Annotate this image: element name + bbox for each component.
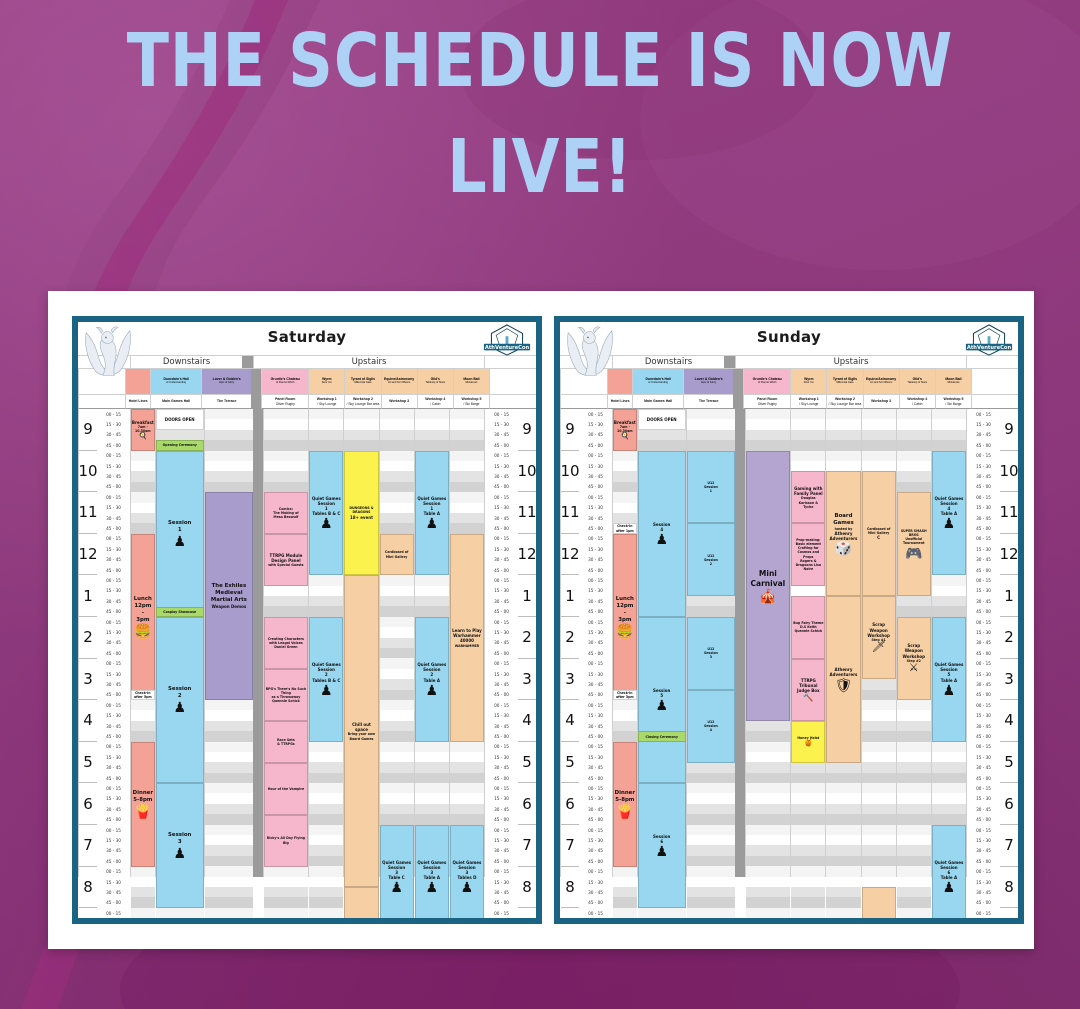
stripe: [791, 877, 825, 887]
slot-label: 15 - 30: [967, 461, 1000, 471]
slot-label: 30 - 45: [967, 846, 1000, 856]
hour-label: 10: [79, 451, 97, 493]
slot-label: 45 - 00: [579, 648, 612, 658]
schedule-event[interactable]: Lunch12pm -3pm🍔: [131, 534, 155, 700]
slot-label: 00 - 15: [97, 409, 130, 419]
hour-label: 9: [518, 908, 536, 918]
event-label: Chill out space: [346, 722, 376, 732]
slot-label: 00 - 15: [485, 409, 518, 419]
hour-label: 9: [79, 409, 97, 451]
slot-label: 45 - 00: [97, 482, 130, 492]
sponsor-tagline: Tabletop of Stars: [426, 382, 445, 385]
slot-label: 00 - 15: [579, 575, 612, 585]
venue-column: Learn to PlayWarhammer40000WARHAMMERQuie…: [449, 409, 484, 877]
slot-label: 45 - 00: [485, 607, 518, 617]
sponsor-tagline: Miniatures: [947, 382, 959, 385]
hour-label: 8: [1000, 867, 1018, 909]
saturday-grid: 91011121234567891000 - 1515 - 3030 - 454…: [78, 409, 536, 877]
slot-label: 15 - 30: [579, 461, 612, 471]
slot-label: 45 - 00: [97, 898, 130, 908]
slot-labels: 00 - 1515 - 3030 - 4545 - 0000 - 1515 - …: [97, 409, 130, 877]
slot-label: 30 - 45: [97, 804, 130, 814]
slot-label: 15 - 30: [485, 586, 518, 596]
schedule-event[interactable]: Ricky's All Day Flying Big: [264, 815, 309, 867]
slot-label: 15 - 30: [579, 877, 612, 887]
schedule-event[interactable]: DOORS OPEN: [638, 409, 686, 430]
slot-label: 00 - 15: [967, 409, 1000, 419]
venue-column: Breakfast7am - 10.30am🍳Check-in after 3p…: [130, 409, 155, 877]
sunday-header: Sunday AthVentureCon: [560, 322, 1018, 356]
event-label: Mini: [759, 569, 777, 579]
hour-label: 5: [1000, 742, 1018, 784]
athventurecon-logo: AthVentureCon: [963, 323, 1015, 356]
slot-label: 45 - 00: [97, 565, 130, 575]
event-icon: ♟: [655, 532, 668, 546]
schedule-event[interactable]: Check-in after 3pm: [613, 690, 637, 700]
hour-label: 1: [561, 575, 579, 617]
slot-label: 30 - 45: [485, 596, 518, 606]
venue-column: Gaming withFamily PanelDouglas Karlsson …: [790, 409, 825, 877]
hour-label: 9: [561, 908, 579, 918]
slot-label: 30 - 45: [485, 679, 518, 689]
schedule-event[interactable]: DOORS OPEN: [156, 409, 204, 430]
event-layer: Breakfast7am - 10.30am🍳Check-in after 1p…: [613, 409, 637, 877]
stripe: [897, 877, 931, 887]
sponsor-tagline: Art and Sci Officers: [870, 382, 892, 385]
slot-label: 45 - 00: [485, 482, 518, 492]
schedule-event[interactable]: Session5♟: [638, 617, 686, 783]
slot-label: 30 - 45: [485, 804, 518, 814]
saturday-sponsor-row: Dunedain's Hallof UnderstandingLover & G…: [78, 369, 536, 395]
hour-label: 7: [1000, 825, 1018, 867]
room-name: Main Games Hall: [162, 399, 190, 403]
event-layer: Comics:The Making ofMesa BeowulfTTRPG Mo…: [264, 409, 309, 877]
slot-label: 15 - 30: [97, 503, 130, 513]
event-label: Board: [834, 513, 852, 520]
slot-label: 15 - 30: [579, 711, 612, 721]
slot-label: 45 - 00: [579, 565, 612, 575]
schedule-event[interactable]: Breakfast7am - 10.30am🍳: [613, 409, 637, 451]
slot-label: 15 - 30: [579, 586, 612, 596]
slot-labels: 00 - 1515 - 3030 - 4545 - 0000 - 1515 - …: [485, 409, 518, 877]
slot-label: 15 - 30: [97, 835, 130, 845]
hour-label: 4: [1000, 700, 1018, 742]
event-label: Closing Ceremony: [646, 735, 678, 739]
slot-label: 15 - 30: [97, 877, 130, 887]
time-column-left: 91011121234567891000 - 1515 - 3030 - 454…: [560, 409, 612, 877]
slot-group: 00 - 1515 - 3030 - 4545 - 00: [967, 700, 1000, 742]
sponsor-cell: Tyrant of SigilsMillennial Gate: [826, 369, 862, 395]
time-column-left: 91011121234567891000 - 1515 - 3030 - 454…: [78, 409, 130, 877]
schedule-event[interactable]: Quiet GamesSession5Table A♟: [932, 617, 966, 742]
event-label: The Exhiles: [212, 583, 247, 590]
schedule-event[interactable]: Honey Heist🍯: [791, 721, 825, 763]
schedule-event[interactable]: Session6♟: [638, 783, 686, 908]
slot-label: 15 - 30: [967, 794, 1000, 804]
slot-label: 45 - 00: [967, 690, 1000, 700]
stripe: [613, 908, 637, 918]
hour-label: 8: [561, 867, 579, 909]
schedule-event[interactable]: Just Dance🎮: [862, 887, 896, 918]
slot-label: 45 - 00: [579, 482, 612, 492]
schedules-card: Saturday AthVentureCon Downstairs Upstai…: [48, 291, 1034, 949]
hour-label: 9: [561, 409, 579, 451]
event-icon: ♟: [426, 683, 439, 697]
room-cell: Workshop 4/ Cabin: [417, 395, 453, 409]
room-sublabel: Oliver Rugby: [758, 402, 777, 406]
slot-group: 00 - 1515 - 3030 - 4545 - 00: [485, 534, 518, 576]
slot-group: 00 - 1515 - 3030 - 4545 - 00: [485, 492, 518, 534]
slot-label: 00 - 15: [967, 908, 1000, 918]
event-label: RPG's There's No Such Thing: [266, 687, 307, 695]
schedule-event[interactable]: Quiet GamesSession4Table A♟: [932, 451, 966, 576]
venue-column: DUNGEONS &DRAGONS18+ eventChill out spac…: [343, 409, 378, 877]
slot-group: 00 - 1515 - 3030 - 4545 - 00: [485, 451, 518, 493]
schedule-event[interactable]: Prop-making:Basic element Crafting for C…: [791, 523, 825, 585]
slot-label: 30 - 45: [967, 679, 1000, 689]
room-sublabel: / Sky Lounge: [799, 402, 818, 406]
schedule-event[interactable]: DUNGEONS &DRAGONS18+ event: [344, 451, 378, 576]
slot-group: 00 - 1515 - 3030 - 4545 - 00: [967, 742, 1000, 784]
slot-label: 30 - 45: [485, 763, 518, 773]
room-cell: Hotel Lines: [607, 395, 632, 409]
schedule-event[interactable]: U12Session4: [687, 690, 735, 763]
stripe: [897, 887, 931, 897]
schedule-event[interactable]: Bug Fairy ThemeD.S Keith Quennie Schick: [791, 596, 825, 658]
room-cell: Workshop 3: [381, 395, 417, 409]
schedule-event[interactable]: MiniCarnival🎪: [746, 451, 791, 721]
slot-label: 15 - 30: [485, 752, 518, 762]
slot-label: 15 - 30: [97, 586, 130, 596]
event-layer: DOORS OPENOpening CeremonySession1♟Cospl…: [156, 409, 204, 877]
sponsor-tagline: Miniatures: [465, 382, 477, 385]
slot-group: 00 - 1515 - 3030 - 4545 - 00: [967, 825, 1000, 867]
event-label: Scrap Weapon: [864, 622, 894, 632]
slot-label: 45 - 00: [579, 856, 612, 866]
slot-label: 00 - 15: [97, 783, 130, 793]
schedule-event[interactable]: Closing Ceremony: [638, 731, 686, 741]
schedule-event[interactable]: Breakfast7am - 10.30am🍳: [131, 409, 155, 451]
slot-group: 00 - 1515 - 3030 - 4545 - 00: [967, 575, 1000, 617]
slot-label: 30 - 45: [97, 596, 130, 606]
schedule-event[interactable]: U12Session2: [687, 523, 735, 596]
room-cell: Workshop 4/ Cabin: [899, 395, 935, 409]
schedule-event[interactable]: Check-in after 1pm: [613, 523, 637, 533]
floor-label-downstairs: Downstairs: [130, 356, 242, 368]
schedule-event[interactable]: Creating Characterswith Leagol VoicesDan…: [264, 617, 309, 669]
event-label: & TTRPGs: [277, 742, 295, 746]
hour-label: 6: [1000, 783, 1018, 825]
event-layer: SUPER SMASH BROSUnofficialTournament🎮Scr…: [897, 409, 931, 877]
event-label: Session: [168, 686, 191, 693]
sponsor-tagline: Millennial Gate: [836, 382, 853, 385]
sponsor-cell: Gruntle's Chateauof Flannel Witch: [743, 369, 790, 395]
hour-label: 10: [561, 451, 579, 493]
schedule-event[interactable]: Quiet GamesSession1Table A♟: [415, 451, 449, 576]
stripe: [205, 897, 253, 907]
schedule-event[interactable]: Cosplay Showcase: [156, 607, 204, 617]
schedule-event[interactable]: TTRPG ModuleDesign Panelwith Special Gue…: [264, 534, 309, 586]
room-name: Main Games Hall: [644, 399, 672, 403]
slot-label: 00 - 15: [967, 742, 1000, 752]
slot-label: 00 - 15: [967, 700, 1000, 710]
slot-group: 00 - 1515 - 3030 - 4545 - 00: [485, 409, 518, 451]
schedule-event[interactable]: Cardboard of Mini Gallery: [380, 534, 414, 576]
venue-column: MiniCarnival🎪: [745, 409, 791, 877]
hour-label: 12: [1000, 534, 1018, 576]
slot-label: 00 - 15: [97, 742, 130, 752]
schedule-event[interactable]: Quiet GamesSession2Table A♟: [415, 617, 449, 742]
slot-label: 45 - 00: [579, 690, 612, 700]
venue-column: Breakfast7am - 10.30am🍳Check-in after 1p…: [612, 409, 637, 877]
hour-label: 1: [518, 575, 536, 617]
slot-label: 00 - 15: [579, 742, 612, 752]
slot-label: 00 - 15: [97, 700, 130, 710]
event-icon: ♟: [320, 683, 333, 697]
event-label: 4: [710, 728, 712, 732]
event-label: Hour of the Vampire: [268, 787, 304, 791]
slot-label: 00 - 15: [97, 534, 130, 544]
schedule-event[interactable]: AthenryAdventurers🛡: [826, 596, 860, 762]
room-cell: Main Games Hall: [632, 395, 683, 409]
schedule-event[interactable]: U12Session1: [687, 451, 735, 524]
stripe: [826, 877, 860, 887]
slot-label: 45 - 00: [967, 856, 1000, 866]
slot-label: 15 - 30: [485, 461, 518, 471]
slot-label: 45 - 00: [967, 773, 1000, 783]
hour-label: 9: [1000, 409, 1018, 451]
slot-label: 15 - 30: [579, 669, 612, 679]
sponsor-cell: Gild'sTabletop of Stars: [417, 369, 453, 395]
stripe: [131, 877, 155, 887]
event-label: Basic element Crafting for Cosmos and Pr…: [793, 542, 823, 559]
event-label: Board Games: [350, 737, 374, 741]
slot-label: 45 - 00: [579, 898, 612, 908]
hour-label: 3: [561, 659, 579, 701]
slot-label: 45 - 00: [967, 731, 1000, 741]
event-layer: Quiet GamesSession1Tables B & C♟Quiet Ga…: [309, 409, 343, 877]
slot-label: 00 - 15: [485, 867, 518, 877]
schedule-event[interactable]: Cardboard of Mini GalleryC: [862, 471, 896, 596]
slot-label: 45 - 00: [967, 440, 1000, 450]
stripe: [264, 897, 309, 907]
sunday-title: Sunday: [560, 328, 1018, 346]
slot-label: 45 - 00: [485, 731, 518, 741]
saturday-header: Saturday AthVentureCon: [78, 322, 536, 356]
slot-label: 15 - 30: [97, 544, 130, 554]
room-cell: Workshop 2/ Sky Lounge Bar area: [826, 395, 862, 409]
event-layer: Gaming withFamily PanelDouglas Karlsson …: [791, 409, 825, 877]
stripe: [746, 877, 791, 887]
schedule-event[interactable]: Chill out spaceBring your ownBoard Games: [344, 575, 378, 887]
slot-label: 15 - 30: [967, 503, 1000, 513]
schedule-event[interactable]: Hour of the Vampire: [264, 763, 309, 815]
slot-group: 00 - 1515 - 3030 - 4545 - 00: [967, 409, 1000, 451]
slot-label: 45 - 00: [485, 648, 518, 658]
room-cell: Hotel Lines: [125, 395, 150, 409]
event-label: Cardboard of Mini Gallery: [864, 527, 894, 535]
hour-label: 4: [518, 700, 536, 742]
event-label: Dinner: [615, 790, 635, 797]
slot-label: 15 - 30: [97, 419, 130, 429]
schedule-event[interactable]: Quiet GamesSession6Table A♟: [932, 825, 966, 918]
sunday-schedule[interactable]: Sunday AthVentureCon Downstairs Upstairs: [554, 316, 1024, 924]
schedule-event[interactable]: Session1♟: [156, 451, 204, 617]
schedule-event[interactable]: Session2♟: [156, 617, 204, 783]
athventurecon-logo: AthVentureCon: [481, 323, 533, 356]
schedule-event[interactable]: The ExhilesMedievalMartial ArtsWeapon De…: [205, 492, 253, 700]
hour-label: 4: [79, 700, 97, 742]
schedule-event[interactable]: Gaming withFamily PanelDouglas Karlsson …: [791, 471, 825, 523]
schedule-event[interactable]: TTRPGTribunalJudge Box🔨: [791, 659, 825, 721]
slot-label: 15 - 30: [967, 835, 1000, 845]
slot-label: 00 - 15: [579, 451, 612, 461]
room-cell: Main Games Hall: [150, 395, 201, 409]
schedule-event[interactable]: Quiet GamesSession2Tables B & C♟: [309, 617, 343, 742]
schedule-event[interactable]: Just Dance🎮: [344, 887, 378, 918]
floor-divider: [735, 409, 745, 877]
slot-label: 00 - 15: [967, 825, 1000, 835]
event-icon: 🍔: [616, 624, 633, 638]
event-layer: Learn to PlayWarhammer40000WARHAMMERQuie…: [450, 409, 484, 877]
slot-label: 15 - 30: [967, 419, 1000, 429]
slot-label: 00 - 15: [967, 659, 1000, 669]
slot-label: 45 - 00: [579, 815, 612, 825]
page-title: The schedule is now live!: [38, 24, 1042, 204]
slot-label: 15 - 30: [485, 627, 518, 637]
schedule-event[interactable]: Learn to PlayWarhammer40000WARHAMMER: [450, 534, 484, 742]
slot-label: 30 - 45: [579, 471, 612, 481]
hour-label: 5: [79, 742, 97, 784]
schedule-event[interactable]: Session3♟: [156, 783, 204, 908]
schedule-event[interactable]: Dinner5-8pm🍟: [131, 742, 155, 867]
slot-label: 30 - 45: [967, 721, 1000, 731]
sponsor-cell: WyrmDoor Inn: [308, 369, 344, 395]
floor-label-upstairs: Upstairs: [735, 356, 966, 368]
event-layer: Quiet GamesSession4Table A♟Quiet GamesSe…: [932, 409, 966, 877]
saturday-schedule[interactable]: Saturday AthVentureCon Downstairs Upstai…: [72, 316, 542, 924]
slot-label: 30 - 45: [97, 471, 130, 481]
schedule-event[interactable]: RPG's There's No Such Thingas a Throwawa…: [264, 669, 309, 721]
hour-label: 7: [518, 825, 536, 867]
event-label: DOORS OPEN: [165, 417, 195, 422]
saturday-floor-headers: Downstairs Upstairs: [78, 356, 536, 369]
schedule-event[interactable]: Scrap WeaponWorkshopStep #2⚔: [897, 617, 931, 700]
schedule-event[interactable]: Race Sets& TTRPGs: [264, 721, 309, 763]
event-label: 7am - 10.30am: [615, 425, 635, 433]
event-icon: ♟: [426, 880, 439, 894]
schedule-event[interactable]: Quiet GamesSession1Tables B & C♟: [309, 451, 343, 576]
slot-label: 15 - 30: [485, 544, 518, 554]
schedule-event[interactable]: Opening Ceremony: [156, 440, 204, 450]
schedule-event[interactable]: Dinner5-8pm🍟: [613, 742, 637, 867]
schedule-event[interactable]: Session4♟: [638, 451, 686, 617]
slot-group: 00 - 1515 - 3030 - 4545 - 00: [485, 908, 518, 918]
slot-label: 45 - 00: [485, 815, 518, 825]
schedule-event[interactable]: BoardGameshosted byAthenryAdventurers🎲: [826, 471, 860, 596]
slot-label: 15 - 30: [485, 669, 518, 679]
slot-label: 30 - 45: [485, 555, 518, 565]
schedule-event[interactable]: Comics:The Making ofMesa Beowulf: [264, 492, 309, 534]
room-name: Hotel Lines: [611, 399, 630, 403]
schedule-event[interactable]: Quiet GamesSession3Tables D♟: [450, 825, 484, 918]
schedule-event[interactable]: Scrap WeaponWorkshopStep #1🗡: [862, 596, 896, 679]
schedule-event[interactable]: Lunch12pm -3pm🍔: [613, 534, 637, 700]
slot-label: 30 - 45: [579, 763, 612, 773]
slot-label: 45 - 00: [579, 523, 612, 533]
slot-group: 00 - 1515 - 3030 - 4545 - 00: [967, 451, 1000, 493]
stripe: [826, 897, 860, 907]
event-label: Cardboard of Mini Gallery: [382, 550, 412, 558]
hour-label: 5: [518, 742, 536, 784]
schedule-event[interactable]: SUPER SMASH BROSUnofficialTournament🎮: [897, 492, 931, 596]
slot-group: 00 - 1515 - 3030 - 4545 - 00: [579, 451, 612, 493]
event-icon: ♟: [426, 516, 439, 530]
room-name: Workshop 3: [871, 399, 891, 403]
event-icon: ♟: [173, 534, 186, 548]
slot-label: 30 - 45: [97, 721, 130, 731]
schedule-event[interactable]: Quiet GamesSession3Table C♟: [380, 825, 414, 918]
slot-label: 45 - 00: [579, 773, 612, 783]
sponsor-cell: Equine/AstronomyArt and Sci Officers: [381, 369, 417, 395]
hour-label: 9: [518, 409, 536, 451]
slot-group: 00 - 1515 - 3030 - 4545 - 00: [97, 825, 130, 867]
sponsor-cell: Gruntle's Chateauof Flannel Witch: [261, 369, 308, 395]
slot-label: 00 - 15: [485, 908, 518, 918]
hour-label: 12: [518, 534, 536, 576]
room-cell: Workshop 1/ Sky Lounge: [308, 395, 344, 409]
slot-group: 00 - 1515 - 3030 - 4545 - 00: [967, 492, 1000, 534]
schedule-event[interactable]: Quiet GamesSession3Table A♟: [415, 825, 449, 918]
slot-label: 00 - 15: [579, 492, 612, 502]
slot-label: 30 - 45: [579, 430, 612, 440]
slot-group: 00 - 1515 - 3030 - 4545 - 00: [97, 867, 130, 909]
room-sublabel: / Sky Lounge: [317, 402, 336, 406]
slot-label: 15 - 30: [967, 586, 1000, 596]
hour-label: 12: [79, 534, 97, 576]
slot-group: 00 - 1515 - 3030 - 4545 - 00: [97, 783, 130, 825]
event-layer: DUNGEONS &DRAGONS18+ eventChill out spac…: [344, 409, 378, 877]
event-label: Lunch: [134, 596, 152, 603]
saturday-room-row: Hotel LinesMain Games HallThe TerracePan…: [78, 395, 536, 409]
slot-label: 00 - 15: [579, 700, 612, 710]
schedule-event[interactable]: U12Session3: [687, 617, 735, 690]
floor-divider: [733, 369, 743, 395]
event-icon: 🍳: [138, 433, 147, 440]
sponsor-tagline: Door Inn: [804, 382, 814, 385]
stripe: [746, 887, 791, 897]
slot-group: 00 - 1515 - 3030 - 4545 - 00: [485, 575, 518, 617]
hour-label: 1: [1000, 575, 1018, 617]
slot-group: 00 - 1515 - 3030 - 4545 - 00: [485, 825, 518, 867]
slot-label: 15 - 30: [485, 835, 518, 845]
slot-group: 00 - 1515 - 3030 - 4545 - 00: [579, 492, 612, 534]
slot-label: 30 - 45: [97, 846, 130, 856]
schedule-row: 91011121234567891000 - 1515 - 3030 - 454…: [560, 409, 1018, 877]
sunday-floor-headers: Downstairs Upstairs: [560, 356, 1018, 369]
stripe: [131, 897, 155, 907]
room-cell: Panel RoomOliver Rugby: [743, 395, 790, 409]
slot-label: 00 - 15: [967, 492, 1000, 502]
slot-label: 30 - 45: [485, 471, 518, 481]
event-label: 3: [710, 655, 712, 659]
room-sublabel: / Cabin: [430, 402, 440, 406]
room-sublabel: / Ski Barge: [945, 402, 961, 406]
schedule-event[interactable]: Check-in after 5pm: [131, 690, 155, 700]
venue-column: SUPER SMASH BROSUnofficialTournament🎮Scr…: [896, 409, 931, 877]
room-cell: The Terrace: [683, 395, 734, 409]
hour-label: 10: [1000, 451, 1018, 493]
